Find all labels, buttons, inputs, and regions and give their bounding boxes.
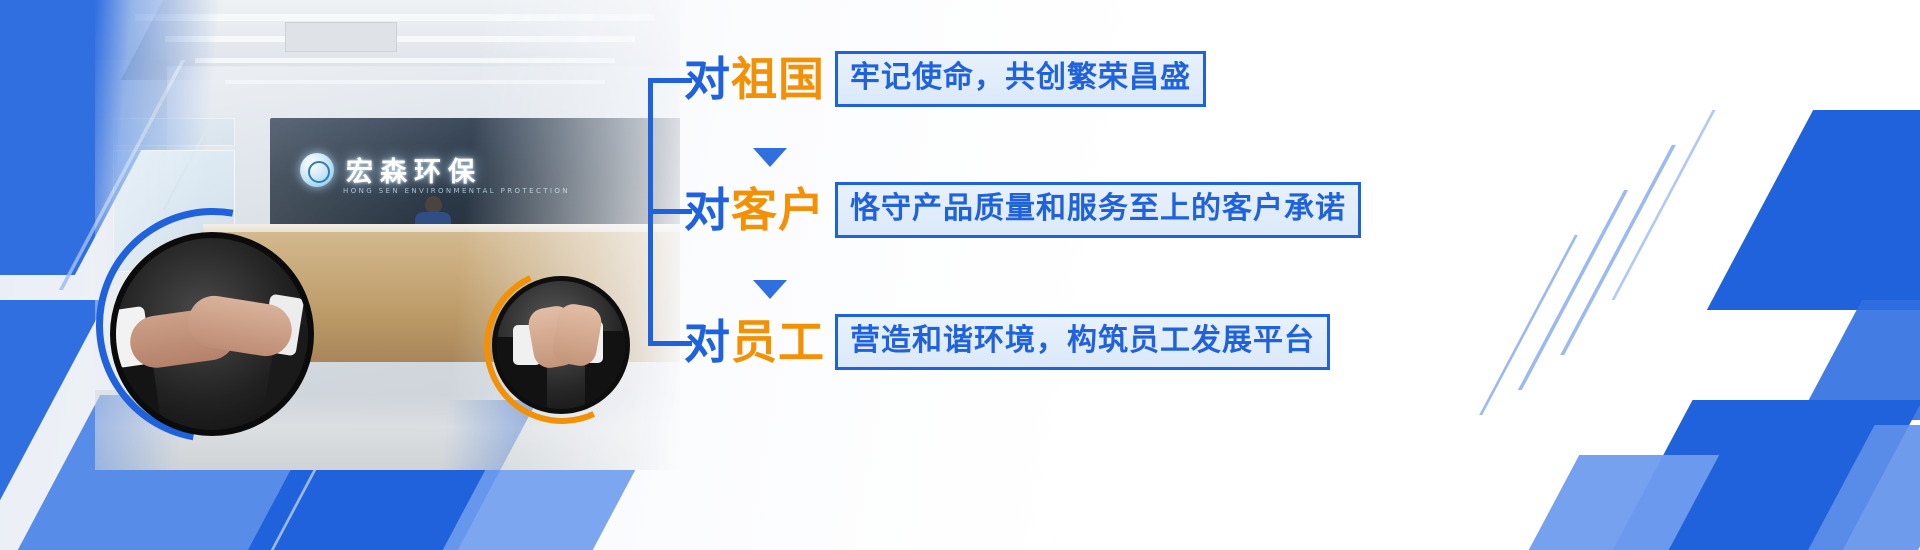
slogan-lead-2: 对客户 — [684, 187, 825, 233]
applause-photo-inset — [492, 276, 630, 414]
slogan-row-1: 对祖国 牢记使命，共创繁荣昌盛 — [684, 50, 1206, 108]
company-sign-subtext: HONG SEN ENVIRONMENTAL PROTECTION — [343, 187, 570, 195]
globe-leaf-logo-icon — [300, 153, 334, 187]
slogan-lead-prefix-2: 对 — [684, 183, 731, 237]
slogan-lead-prefix-1: 对 — [684, 52, 731, 106]
ceiling-light-strip-4 — [225, 80, 605, 84]
ceiling-light-strip-3 — [195, 58, 615, 63]
slogan-row-2: 对客户 恪守产品质量和服务至上的客户承诺 — [684, 181, 1361, 239]
down-triangle-arrow-1 — [753, 148, 787, 167]
slogan-block: 对祖国 牢记使命，共创繁荣昌盛 对客户 恪守产品质量和服务至上的客户承诺 对员工… — [648, 78, 1348, 398]
slogan-lead-1: 对祖国 — [684, 56, 825, 102]
handshake-photo-inset — [110, 232, 314, 436]
slogan-row-3: 对员工 营造和谐环境，构筑员工发展平台 — [684, 313, 1330, 371]
lobby-glass-panel-2 — [113, 118, 235, 146]
company-sign-text: 宏森环保 — [346, 150, 482, 189]
slogan-chip-2: 恪守产品质量和服务至上的客户承诺 — [835, 182, 1361, 238]
ceiling-light-strip-1 — [135, 14, 655, 21]
company-sign: 宏森环保 — [300, 150, 482, 189]
down-triangle-arrow-2 — [753, 280, 787, 299]
promo-banner: 宏森环保 HONG SEN ENVIRONMENTAL PROTECTION — [0, 0, 1920, 550]
slogan-lead-keyword-3: 员工 — [731, 315, 825, 369]
slogan-lead-prefix-3: 对 — [684, 315, 731, 369]
slogan-lead-3: 对员工 — [684, 319, 825, 365]
ceiling-light-strip-2 — [165, 36, 635, 42]
slogan-chip-1: 牢记使命，共创繁荣昌盛 — [835, 51, 1206, 107]
slogan-lead-keyword-1: 祖国 — [731, 52, 825, 106]
slogan-chip-3: 营造和谐环境，构筑员工发展平台 — [835, 314, 1330, 370]
ceiling-vent-panel — [285, 22, 397, 52]
slogan-lead-keyword-2: 客户 — [731, 183, 825, 237]
